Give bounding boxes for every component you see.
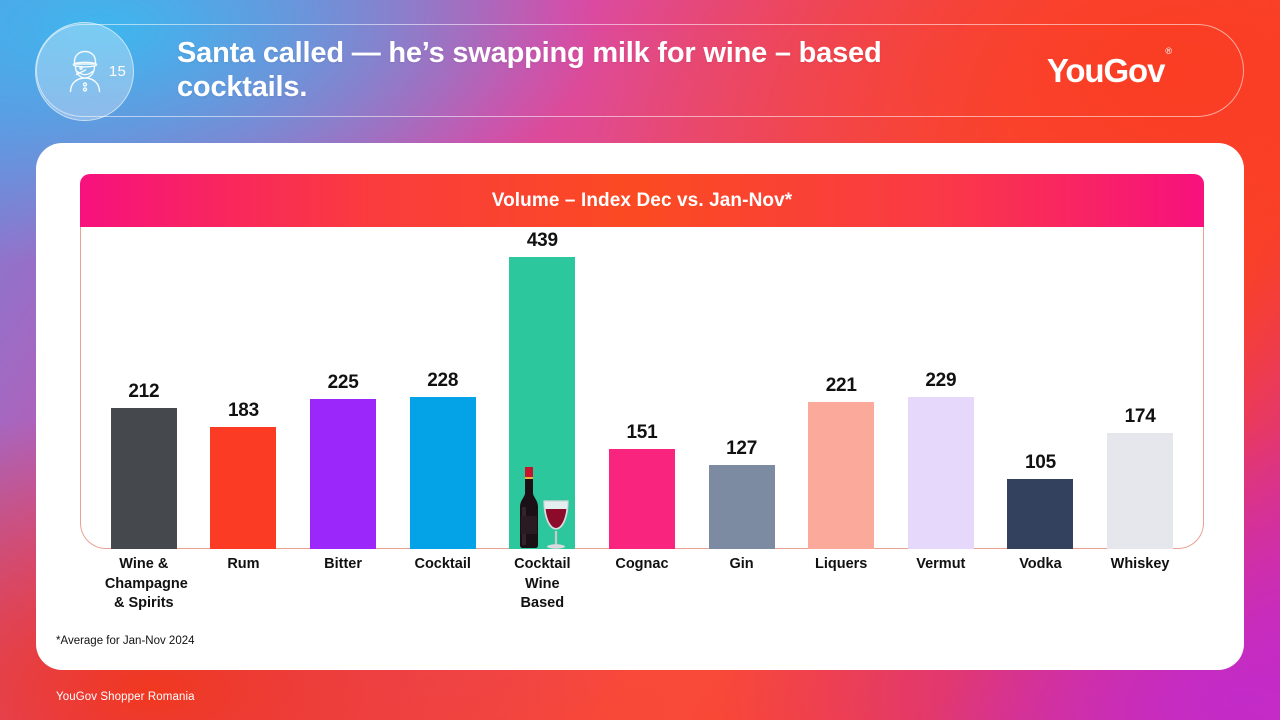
- x-axis-label: Cognac: [603, 555, 681, 614]
- bar-rect: [1107, 433, 1173, 549]
- bar-value-label: 212: [128, 381, 159, 403]
- bar-value-label: 174: [1125, 406, 1156, 428]
- header-banner: 15 Santa called — he’s swapping milk for…: [36, 24, 1244, 117]
- bar-rect: [609, 449, 675, 549]
- bar-column: 439: [503, 227, 581, 549]
- bar-column: 229: [902, 227, 980, 549]
- bar-rect: [808, 402, 874, 549]
- x-axis-labels: Wine &Champagne& SpiritsRumBitterCocktai…: [80, 555, 1204, 614]
- bar-value-label: 229: [925, 370, 956, 392]
- x-axis-label: CocktailWineBased: [503, 555, 581, 614]
- bar-rect: [709, 465, 775, 549]
- bar-value-label: 183: [228, 400, 259, 422]
- bar-column: 127: [703, 227, 781, 549]
- bar-column: 212: [105, 227, 183, 549]
- bar-rect: [1007, 479, 1073, 549]
- x-axis-label: Rum: [204, 555, 282, 614]
- bar-column: 151: [603, 227, 681, 549]
- x-axis-label: Bitter: [304, 555, 382, 614]
- bar-column: 225: [304, 227, 382, 549]
- bar-value-label: 228: [427, 370, 458, 392]
- trademark-symbol: ®: [1165, 46, 1172, 56]
- santa-icon: [54, 41, 116, 103]
- chart-title-bar: Volume – Index Dec vs. Jan-Nov*: [80, 174, 1204, 227]
- santa-badge: 15: [35, 22, 134, 121]
- bar-column: 183: [204, 227, 282, 549]
- page-title: Santa called — he’s swapping milk for wi…: [177, 37, 937, 105]
- bar-column: 174: [1101, 227, 1179, 549]
- bar-column: 105: [1001, 227, 1079, 549]
- bar-chart: 212183225228439 151127221229105174: [80, 227, 1204, 549]
- bar-value-label: 151: [627, 422, 658, 444]
- bar-value-label: 105: [1025, 452, 1056, 474]
- bar-value-label: 221: [826, 375, 857, 397]
- wine-bottle-and-glass-icon: [511, 461, 573, 549]
- bar-column: 221: [802, 227, 880, 549]
- badge-count: 15: [109, 63, 126, 80]
- yougov-logo: YouGov®: [1047, 52, 1171, 90]
- bar-rect: [310, 399, 376, 549]
- bar-rect: [509, 257, 575, 549]
- x-axis-label: Vodka: [1001, 555, 1079, 614]
- x-axis-label: Cocktail: [404, 555, 482, 614]
- x-axis-label: Wine &Champagne& Spirits: [105, 555, 183, 614]
- x-axis-label: Liquers: [802, 555, 880, 614]
- x-axis-label: Gin: [703, 555, 781, 614]
- footer-credit: YouGov Shopper Romania: [56, 691, 195, 703]
- bar-value-label: 127: [726, 438, 757, 460]
- bar-rect: [111, 408, 177, 549]
- chart-footnote: *Average for Jan-Nov 2024: [56, 635, 195, 647]
- x-axis-label: Whiskey: [1101, 555, 1179, 614]
- bar-column: 228: [404, 227, 482, 549]
- bar-rect: [210, 427, 276, 549]
- bar-value-label: 439: [527, 230, 558, 252]
- bar-value-label: 225: [328, 372, 359, 394]
- bar-rect: [908, 397, 974, 549]
- yougov-logo-text: YouGov: [1047, 52, 1164, 89]
- chart-card: Volume – Index Dec vs. Jan-Nov* 21218322…: [36, 143, 1244, 670]
- chart-title: Volume – Index Dec vs. Jan-Nov*: [492, 190, 793, 212]
- bar-rect: [410, 397, 476, 549]
- x-axis-label: Vermut: [902, 555, 980, 614]
